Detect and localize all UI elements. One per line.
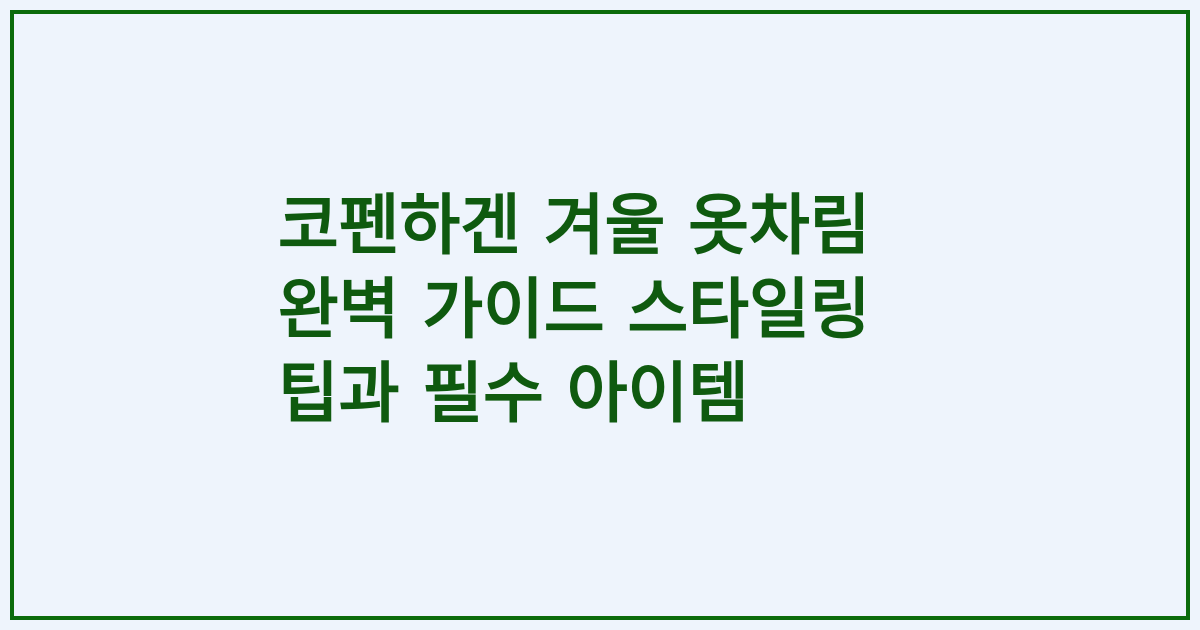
headline-line-1: 코펜하겐 겨울 옷차림 — [278, 184, 978, 268]
headline-line-3: 팁과 필수 아이템 — [278, 352, 978, 436]
headline-block: 코펜하겐 겨울 옷차림 완벽 가이드 스타일링 팁과 필수 아이템 — [278, 184, 978, 436]
thumbnail-card: 코펜하겐 겨울 옷차림 완벽 가이드 스타일링 팁과 필수 아이템 — [0, 0, 1200, 630]
headline-line-2: 완벽 가이드 스타일링 — [278, 268, 978, 352]
